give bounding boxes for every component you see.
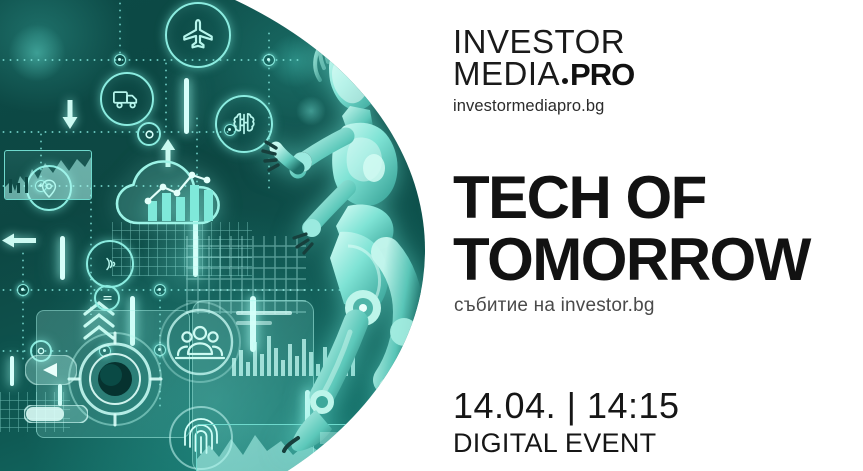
dotted-connector-line bbox=[165, 60, 167, 132]
event-banner: INVESTOR MEDIA PRO investormediapro.bg T… bbox=[0, 0, 863, 471]
logo-word-media: MEDIA bbox=[453, 58, 560, 89]
dotted-connector-line bbox=[22, 250, 24, 360]
robot-android-figure bbox=[228, 2, 438, 471]
network-node bbox=[154, 284, 166, 296]
dotted-connector-line bbox=[0, 131, 238, 133]
event-type: DIGITAL EVENT bbox=[453, 427, 680, 459]
page-title: TECH OF TOMORROW bbox=[453, 167, 863, 291]
logo-line-investor: INVESTOR bbox=[453, 26, 693, 57]
content-column: INVESTOR MEDIA PRO investormediapro.bg T… bbox=[440, 0, 863, 471]
headline-line-1: TECH OF bbox=[453, 167, 863, 229]
bokeh-blob bbox=[8, 24, 66, 82]
toggle-slider-icon bbox=[24, 405, 88, 428]
brand-logo[interactable]: INVESTOR MEDIA PRO investormediapro.bg bbox=[453, 26, 693, 116]
headline-line-2: TOMORROW bbox=[453, 229, 863, 291]
event-details: 14.04. | 14:15 DIGITAL EVENT bbox=[453, 385, 680, 459]
logo-url[interactable]: investormediapro.bg bbox=[453, 97, 693, 116]
network-node bbox=[17, 284, 29, 296]
subtitle: събитие на investor.bg bbox=[454, 295, 655, 317]
event-datetime: 14.04. | 14:15 bbox=[453, 385, 680, 427]
tech-artwork-panel bbox=[0, 0, 440, 471]
glow-bar bbox=[184, 78, 189, 134]
airplane-icon bbox=[165, 2, 231, 68]
download-arrow-icon bbox=[61, 100, 79, 135]
glow-bar bbox=[60, 236, 65, 280]
logo-word-pro: PRO bbox=[570, 57, 634, 93]
dotted-connector-line bbox=[119, 0, 121, 60]
glow-bar bbox=[10, 356, 14, 386]
cloud-analytics-icon bbox=[108, 135, 240, 236]
network-node bbox=[114, 54, 126, 66]
logo-dot-icon bbox=[562, 78, 568, 84]
area-chart-panel bbox=[4, 150, 92, 200]
logo-line-media-pro: MEDIA PRO bbox=[453, 57, 693, 93]
play-triangle-icon bbox=[25, 355, 77, 390]
truck-icon bbox=[100, 72, 154, 126]
left-arrow-icon bbox=[2, 232, 36, 255]
network-node-icon bbox=[94, 285, 120, 311]
